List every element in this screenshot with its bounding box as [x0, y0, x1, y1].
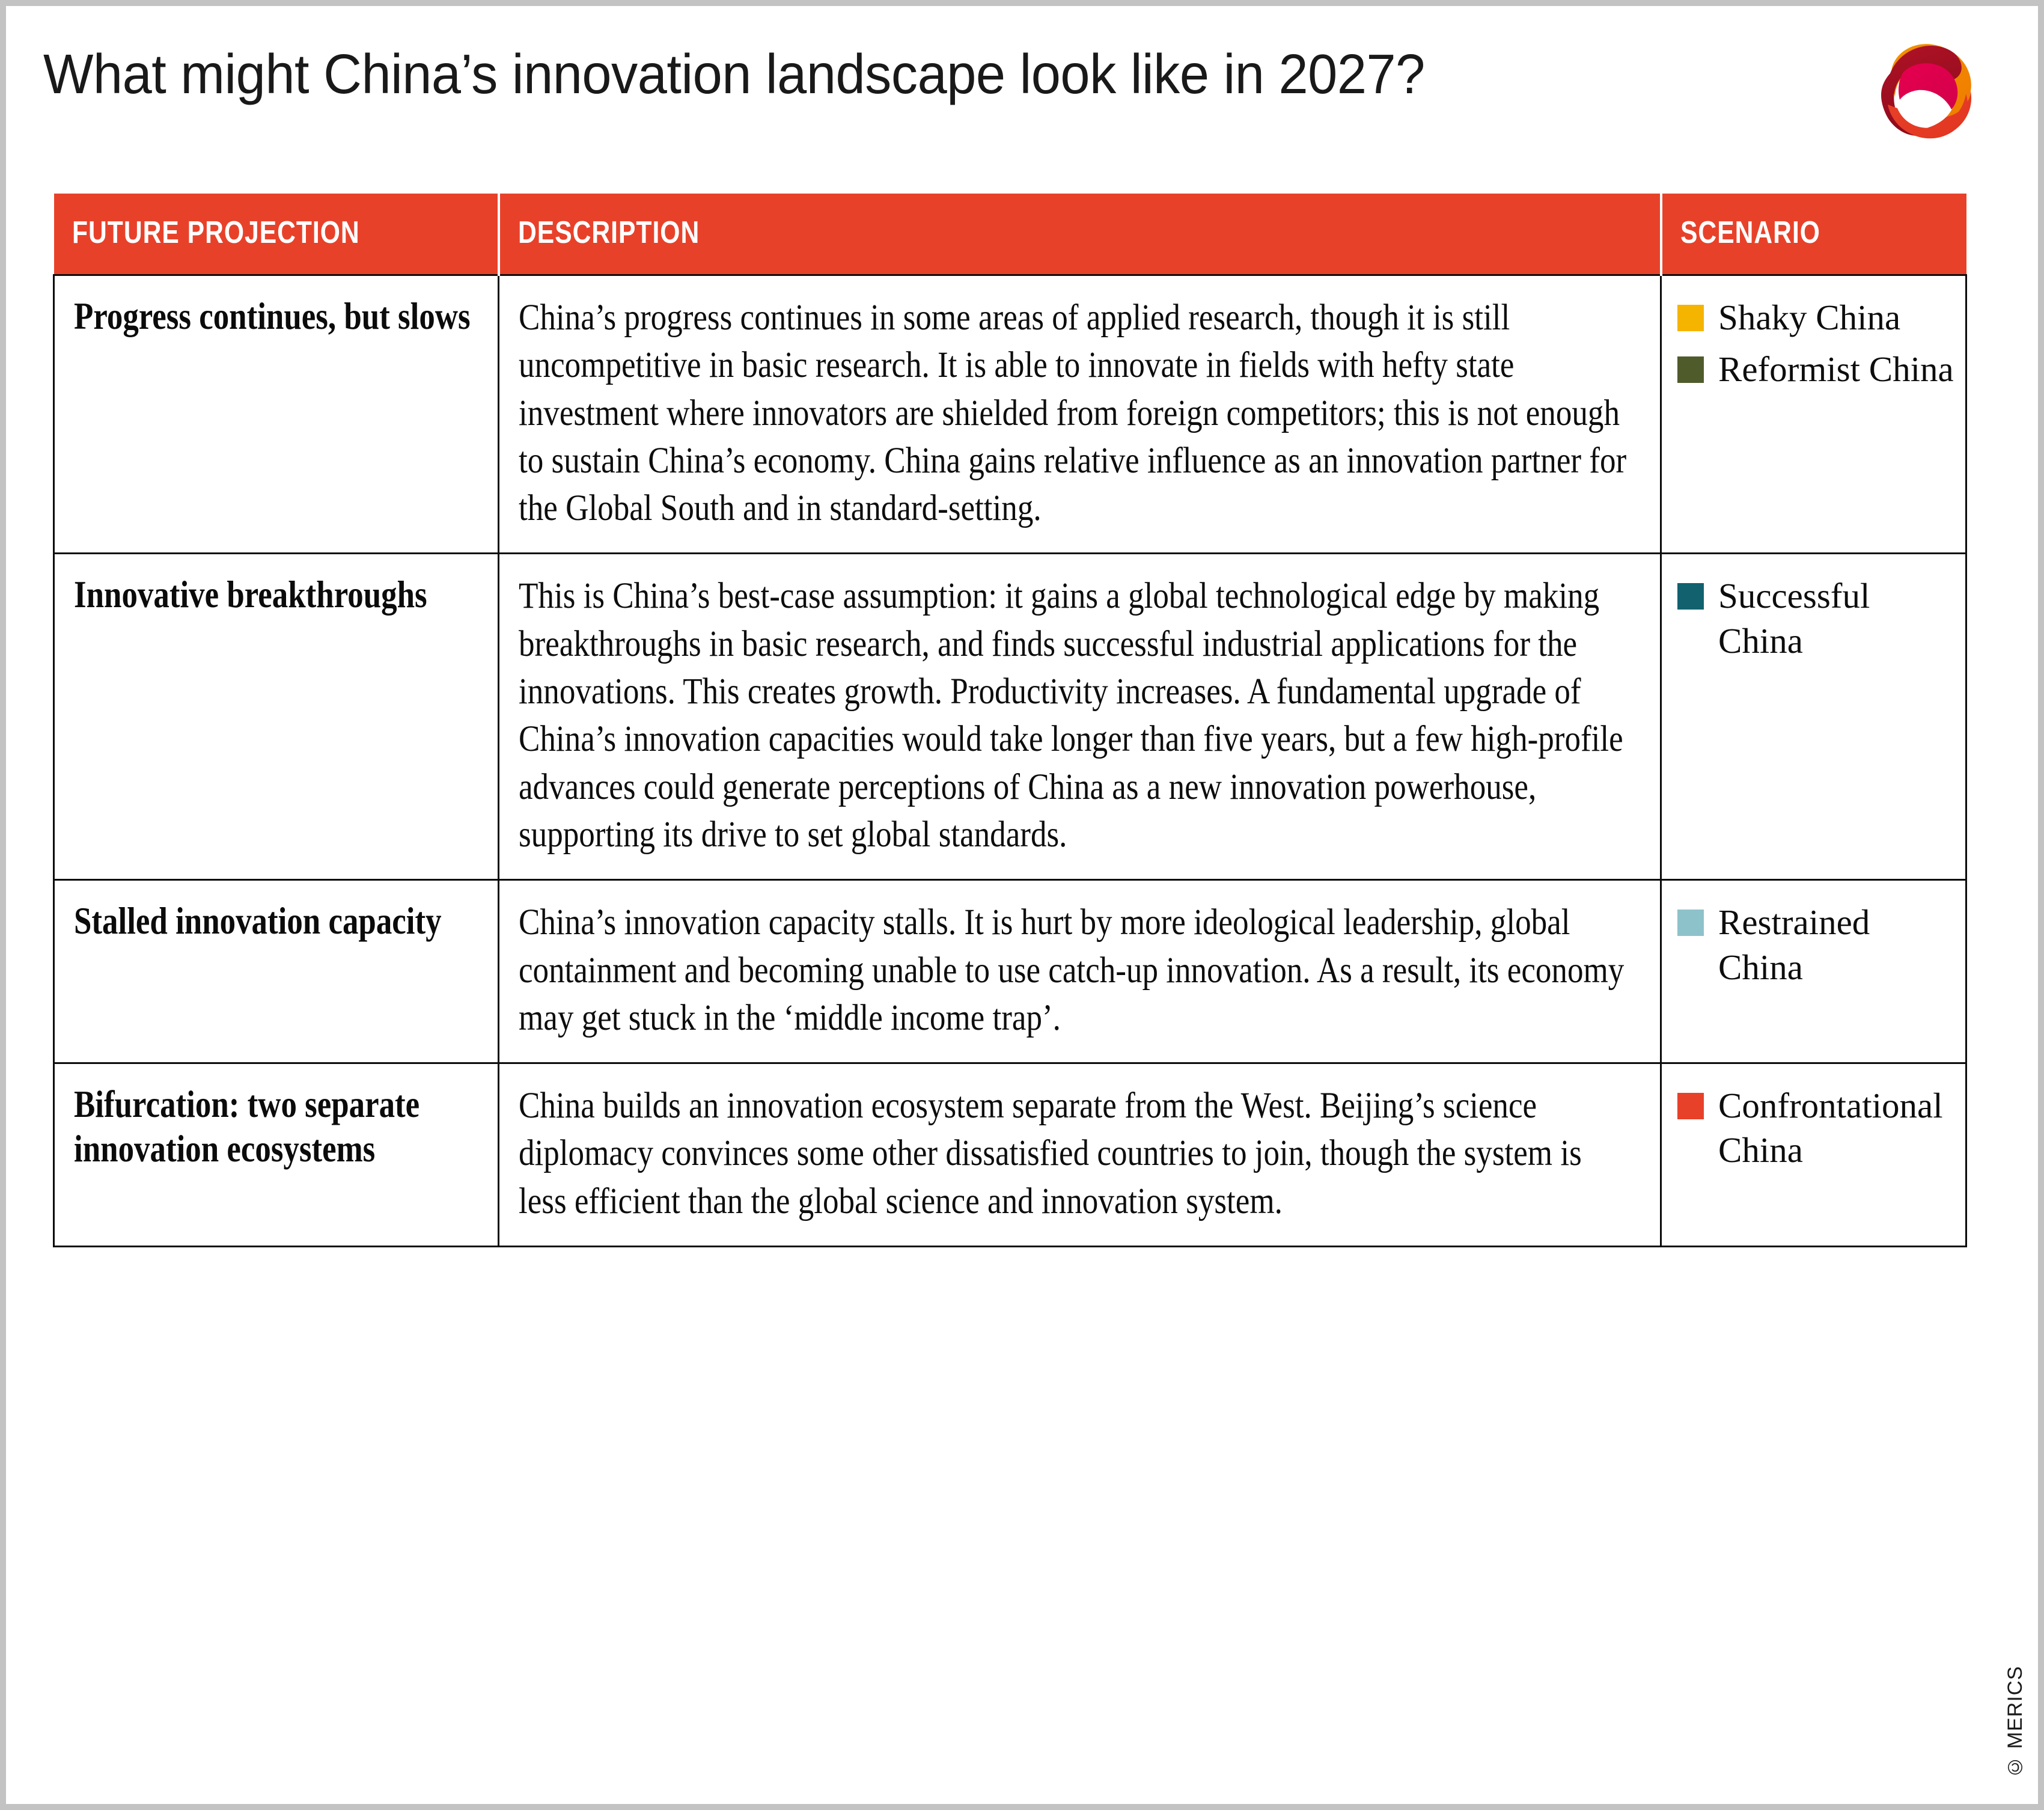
column-header-scenario: SCENARIO [1661, 194, 1966, 275]
color-swatch-icon [1677, 583, 1704, 610]
cell-scenario: Successful China [1661, 554, 1966, 880]
color-swatch-icon [1677, 1093, 1704, 1119]
cell-future-projection: Innovative breakthroughs [54, 554, 499, 880]
scenario-label: Successful China [1718, 573, 1954, 663]
list-item: Successful China [1677, 573, 1954, 663]
table-row: Bifurcation: two separate innovation eco… [54, 1063, 1966, 1247]
list-item: Reformist China [1677, 347, 1954, 391]
color-swatch-icon [1677, 305, 1704, 331]
list-item: Confrontational China [1677, 1083, 1954, 1173]
page-title: What might China’s innovation landscape … [43, 42, 1425, 106]
list-item: Restrained China [1677, 900, 1954, 989]
projection-label: Progress continues, but slows [74, 294, 477, 338]
scenario-list: Restrained China [1677, 900, 1954, 989]
scenario-list: Successful China [1677, 573, 1954, 663]
scenario-label: Reformist China [1718, 347, 1954, 391]
scenario-label: Confrontational China [1718, 1083, 1954, 1173]
list-item: Shaky China [1677, 295, 1954, 340]
cell-future-projection: Stalled innovation capacity [54, 880, 499, 1063]
cell-scenario: Shaky China Reformist China [1661, 275, 1966, 554]
description-text: This is China’s best-case assumption: it… [519, 572, 1637, 858]
infographic-page: What might China’s innovation landscape … [0, 0, 2044, 1810]
merics-logo [1875, 40, 1983, 153]
cell-description: This is China’s best-case assumption: it… [499, 554, 1661, 880]
column-header-description: DESCRIPTION [499, 194, 1661, 275]
scenario-label: Restrained China [1718, 900, 1954, 989]
scenario-list: Confrontational China [1677, 1083, 1954, 1173]
page-header: What might China’s innovation landscape … [6, 6, 2038, 180]
cell-description: China’s progress continues in some areas… [499, 275, 1661, 554]
scenario-list: Shaky China Reformist China [1677, 295, 1954, 392]
table-row: Progress continues, but slows China’s pr… [54, 275, 1966, 554]
table-row: Innovative breakthroughs This is China’s… [54, 554, 1966, 880]
column-header-future-projection: FUTURE PROJECTION [54, 194, 499, 275]
cell-future-projection: Bifurcation: two separate innovation eco… [54, 1063, 499, 1247]
table-header-row: FUTURE PROJECTION DESCRIPTION SCENARIO [54, 194, 1966, 275]
color-swatch-icon [1677, 910, 1704, 936]
description-text: China builds an innovation ecosystem sep… [519, 1082, 1637, 1225]
cell-description: China’s innovation capacity stalls. It i… [499, 880, 1661, 1063]
description-text: China’s progress continues in some areas… [519, 294, 1637, 532]
copyright-notice: © MERICS [2004, 1666, 2027, 1779]
description-text: China’s innovation capacity stalls. It i… [519, 899, 1637, 1042]
projection-label: Innovative breakthroughs [74, 572, 477, 617]
scenario-label: Shaky China [1718, 295, 1900, 340]
projection-label: Stalled innovation capacity [74, 899, 477, 943]
cell-scenario: Confrontational China [1661, 1063, 1966, 1247]
color-swatch-icon [1677, 356, 1704, 383]
cell-future-projection: Progress continues, but slows [54, 275, 499, 554]
cell-scenario: Restrained China [1661, 880, 1966, 1063]
table-body: Progress continues, but slows China’s pr… [54, 275, 1966, 1247]
projection-label: Bifurcation: two separate innovation eco… [74, 1082, 477, 1172]
table-row: Stalled innovation capacity China’s inno… [54, 880, 1966, 1063]
scenario-table: FUTURE PROJECTION DESCRIPTION SCENARIO P… [53, 194, 1967, 1247]
cell-description: China builds an innovation ecosystem sep… [499, 1063, 1661, 1247]
